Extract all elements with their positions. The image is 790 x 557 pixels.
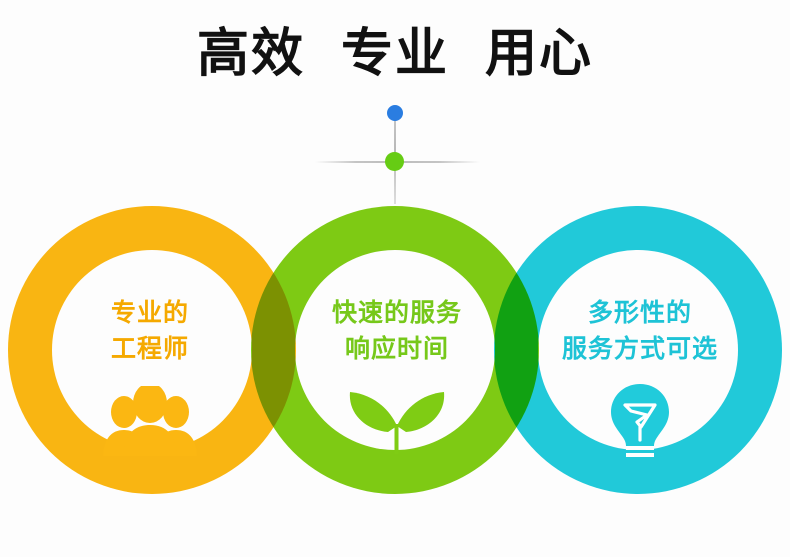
circle-content-response-time: 快速的服务 响应时间 [297, 296, 497, 367]
circle-2-line-2: 响应时间 [297, 332, 497, 368]
title-word-3: 用心 [485, 26, 593, 83]
circle-1-line-2: 工程师 [50, 332, 250, 368]
title-word-1: 高效 [197, 26, 305, 83]
circle-3-line-1: 多形性的 [540, 296, 740, 332]
venn-rings [0, 0, 790, 557]
sprout-icon [297, 378, 497, 458]
ring-cyan [0, 0, 790, 557]
green-dot-icon [385, 152, 404, 171]
circle-content-service-options: 多形性的 服务方式可选 [540, 296, 740, 367]
ring-orange [0, 0, 790, 557]
title-word-2: 专业 [341, 26, 449, 83]
infographic-canvas: 高效专业用心 [0, 0, 790, 557]
people-group-icon [50, 386, 250, 456]
ring-green [0, 0, 790, 557]
circle-1-line-1: 专业的 [50, 296, 250, 332]
circle-2-line-1: 快速的服务 [297, 296, 497, 332]
circle-3-line-2: 服务方式可选 [540, 332, 740, 368]
page-title: 高效专业用心 [0, 26, 790, 83]
blue-dot-icon [387, 105, 403, 121]
circle-content-engineers: 专业的 工程师 [50, 296, 250, 367]
lightbulb-icon [540, 382, 740, 460]
